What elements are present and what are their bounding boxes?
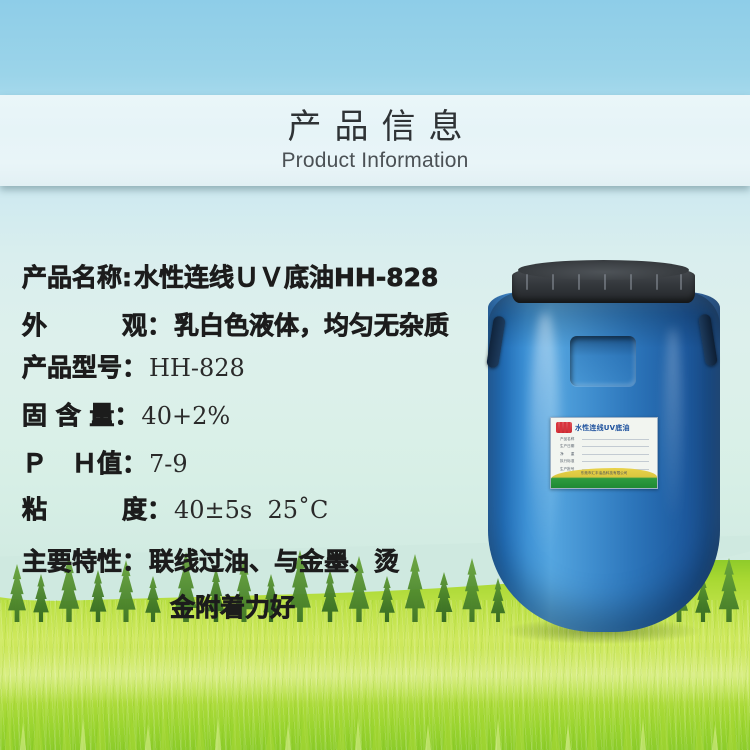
spec-value: 乳白色液体，均匀无杂质 [174, 306, 449, 342]
label-field-rows: 产品名称 生产日期 净 重 执行标准 生产批号 [551, 435, 657, 472]
label-row: 生产日期 [560, 444, 649, 449]
spec-label: 固 含 量： [22, 403, 139, 428]
label-row: 产品名称 [560, 437, 649, 442]
label-key: 净 重 [560, 452, 580, 457]
label-key: 生产日期 [560, 444, 580, 449]
spec-label: 产品名称: [22, 265, 132, 290]
spec-row-solid-content: 固 含 量： 40+2% [22, 402, 492, 450]
label-row: 净 重 [560, 452, 649, 457]
label-product-title: 水性连线UV底油 [575, 423, 630, 433]
product-barrel-image: 水性连线UV底油 产品名称 生产日期 净 重 执行标准 [468, 258, 730, 638]
barrel-product-label: 水性连线UV底油 产品名称 生产日期 净 重 执行标准 [550, 417, 658, 489]
spec-row-product-name: 产品名称: 水性连线ＵＶ底油HH-828 [22, 258, 492, 306]
label-rule [582, 439, 649, 440]
spec-label: 外 观： [22, 313, 172, 338]
spec-label: Ｐ Ｈ值： [22, 451, 147, 476]
spec-value: 7-9 [149, 450, 188, 478]
label-rule [582, 454, 649, 455]
label-header: 水性连线UV底油 [551, 418, 657, 435]
page-title-en: Product Information [281, 149, 468, 173]
spec-value: HH-828 [149, 354, 245, 382]
barrel-lid-ridges [512, 272, 695, 300]
spec-row-ph: Ｐ Ｈ值： 7-9 [22, 450, 492, 496]
grass-blades-icon [0, 660, 750, 750]
barrel-grip-recess [570, 336, 636, 386]
spec-row-viscosity: 粘 度： 40±5s 25˚C [22, 496, 492, 542]
label-rule [582, 461, 649, 462]
spec-label: 主要特性： [22, 549, 147, 574]
spec-row-model: 产品型号： HH-828 [22, 354, 492, 402]
page-header-banner: 产品信息 Product Information [0, 95, 750, 186]
spec-value: 40±5s 25˚C [174, 496, 328, 524]
specification-list: 产品名称: 水性连线ＵＶ底油HH-828 外 观： 乳白色液体，均匀无杂质 产品… [22, 258, 492, 634]
spec-value-continuation: 金附着力好 [170, 588, 492, 634]
barrel-highlight-right [664, 328, 682, 528]
brand-logo-icon [556, 422, 572, 433]
page-title-cn: 产品信息 [275, 108, 476, 146]
label-key: 执行标准 [560, 459, 580, 464]
label-key: 产品名称 [560, 437, 580, 442]
spec-value: 40+2% [141, 402, 230, 430]
label-row: 执行标准 [560, 459, 649, 464]
spec-row-main-features: 主要特性： 联线过油、与金墨、烫 [22, 542, 492, 588]
spec-value: 水性连线ＵＶ底油HH-828 [134, 258, 438, 294]
product-information-page: 产品信息 Product Information 产品名称: 水性连线ＵＶ底油H… [0, 0, 750, 750]
spec-label: 粘 度： [22, 497, 172, 522]
spec-label: 产品型号： [22, 355, 147, 380]
spec-row-appearance: 外 观： 乳白色液体，均匀无杂质 [22, 306, 492, 354]
spec-value: 联线过油、与金墨、烫 [149, 542, 399, 578]
label-company-name: 东莞市汇丰油品科技有限公司 [551, 471, 657, 476]
label-rule [582, 446, 649, 447]
